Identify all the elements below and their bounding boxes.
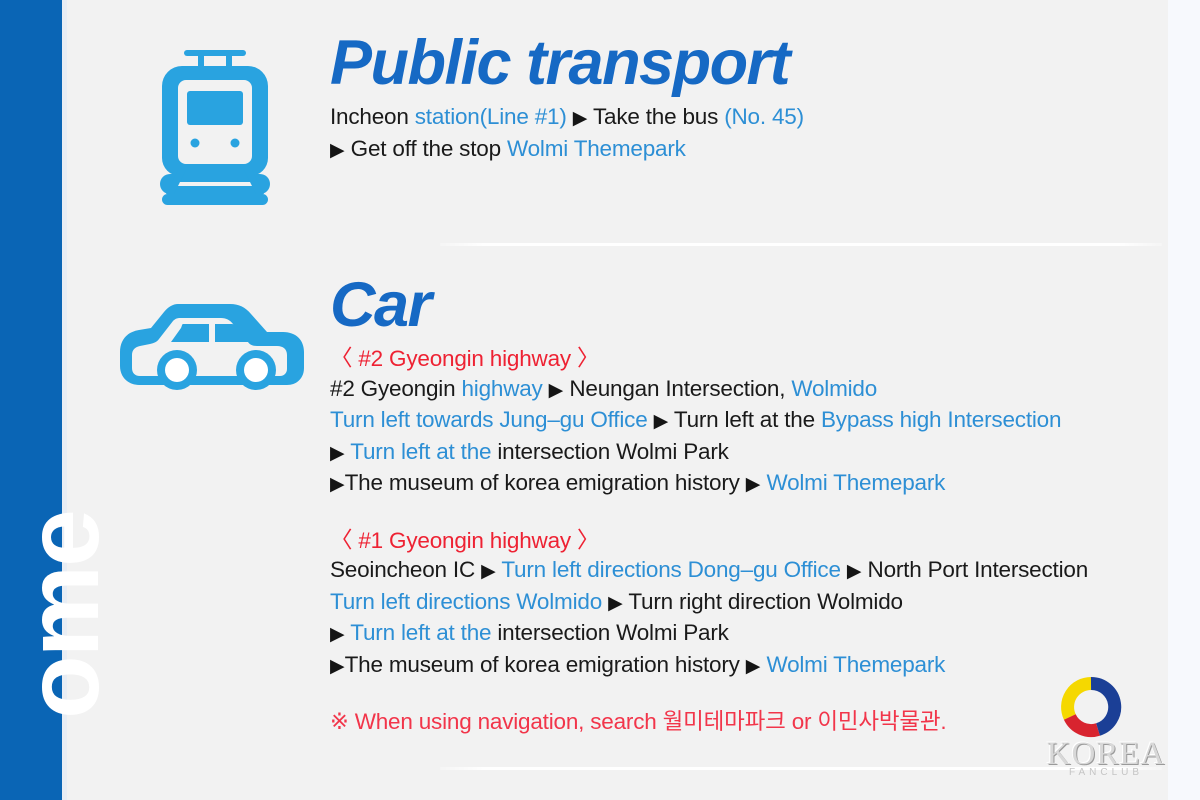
highlight-text: highway <box>461 376 542 401</box>
plain-text: Turn right direction Wolmido <box>623 589 903 614</box>
highlight-text: Wolmido <box>791 376 877 401</box>
highlight-text: Wolmi Themepark <box>766 652 945 677</box>
car-routes: 〈 #2 Gyeongin highway 〉#2 Gyeongin highw… <box>330 344 1168 681</box>
arrow-icon: ▶ <box>608 593 623 614</box>
plain-text: Take the bus <box>587 104 724 129</box>
train-icon-slot <box>110 44 320 224</box>
route-line: ▶ Turn left at the intersection Wolmi Pa… <box>330 618 1168 650</box>
arrow-icon: ▶ <box>330 140 345 161</box>
arrow-icon: ▶ <box>481 561 496 582</box>
plain-text: Neungan Intersection, <box>563 376 791 401</box>
page-title-public-transport: Public transport <box>330 30 1168 96</box>
route-subtitle: 〈 #1 Gyeongin highway 〉 <box>330 526 1168 556</box>
arrow-icon: ▶ <box>549 380 564 401</box>
plain-text: Turn left at the <box>668 407 821 432</box>
route-line: #2 Gyeongin highway ▶ Neungan Intersecti… <box>330 374 1168 406</box>
car-icon-slot <box>110 294 320 404</box>
highlight-text: Wolmi Themepark <box>766 470 945 495</box>
arrow-icon: ▶ <box>330 656 345 677</box>
divider-top <box>440 243 1162 246</box>
arrow-icon: ▶ <box>746 474 761 495</box>
logo-subtitle: FANCLUB <box>1036 768 1176 778</box>
highlight-text: Turn left directions Wolmido <box>330 589 602 614</box>
korea-ring-icon <box>1060 676 1122 738</box>
highlight-text: Turn left towards Jung–gu Office <box>330 407 648 432</box>
infographic-page: ome <box>0 0 1200 800</box>
ring-arc-red <box>1070 717 1098 731</box>
plain-text: North Port Intersection <box>861 557 1088 582</box>
ring-arc-blue <box>1091 683 1115 729</box>
plain-text: intersection Wolmi Park <box>491 439 728 464</box>
plain-text: Get off the stop <box>345 136 507 161</box>
plain-text: The museum of korea emigration history <box>345 652 746 677</box>
route-line: Turn left directions Wolmido ▶ Turn righ… <box>330 587 1168 619</box>
route-line: Incheon station(Line #1) ▶ Take the bus … <box>330 102 1168 134</box>
highlight-text: Wolmi Themepark <box>507 136 686 161</box>
route-group: 〈 #1 Gyeongin highway 〉Seoincheon IC ▶ T… <box>330 526 1168 682</box>
page-title-car: Car <box>330 272 1168 338</box>
content-area: Public transport Incheon station(Line #1… <box>110 0 1168 800</box>
car-icon <box>120 294 310 399</box>
car-text-block: Car 〈 #2 Gyeongin highway 〉#2 Gyeongin h… <box>330 272 1168 737</box>
korea-fanclub-logo: KOREA FANCLUB <box>1036 676 1176 786</box>
plain-text: The museum of korea emigration history <box>345 470 746 495</box>
highlight-text: Turn left at the <box>350 439 491 464</box>
highlight-text: station(Line #1) <box>415 104 567 129</box>
transport-text-block: Public transport Incheon station(Line #1… <box>330 30 1168 165</box>
ring-arc-yellow <box>1068 684 1091 718</box>
arrow-icon: ▶ <box>746 656 761 677</box>
highlight-text: Turn left directions Dong–gu Office <box>501 557 840 582</box>
plain-text: intersection Wolmi Park <box>491 620 728 645</box>
highlight-text: (No. 45) <box>724 104 804 129</box>
arrow-icon: ▶ <box>847 561 862 582</box>
route-line: Turn left towards Jung–gu Office ▶ Turn … <box>330 405 1168 437</box>
plain-text: Incheon <box>330 104 415 129</box>
route-line: ▶ Turn left at the intersection Wolmi Pa… <box>330 437 1168 469</box>
train-icon <box>150 44 280 219</box>
arrow-icon: ▶ <box>330 443 345 464</box>
arrow-icon: ▶ <box>654 411 669 432</box>
transport-lines: Incheon station(Line #1) ▶ Take the bus … <box>330 102 1168 165</box>
arrow-icon: ▶ <box>330 624 345 645</box>
highlight-text: Turn left at the <box>350 620 491 645</box>
plain-text: Seoincheon IC <box>330 557 481 582</box>
arrow-icon: ▶ <box>330 474 345 495</box>
plain-text: #2 Gyeongin <box>330 376 461 401</box>
highlight-text: Bypass high Intersection <box>821 407 1061 432</box>
rail-vertical-text: ome <box>8 490 118 740</box>
route-line: ▶ Get off the stop Wolmi Themepark <box>330 134 1168 166</box>
route-subtitle: 〈 #2 Gyeongin highway 〉 <box>330 344 1168 374</box>
route-line: ▶The museum of korea emigration history … <box>330 468 1168 500</box>
route-group: 〈 #2 Gyeongin highway 〉#2 Gyeongin highw… <box>330 344 1168 500</box>
arrow-icon: ▶ <box>573 108 588 129</box>
route-line: Seoincheon IC ▶ Turn left directions Don… <box>330 555 1168 587</box>
